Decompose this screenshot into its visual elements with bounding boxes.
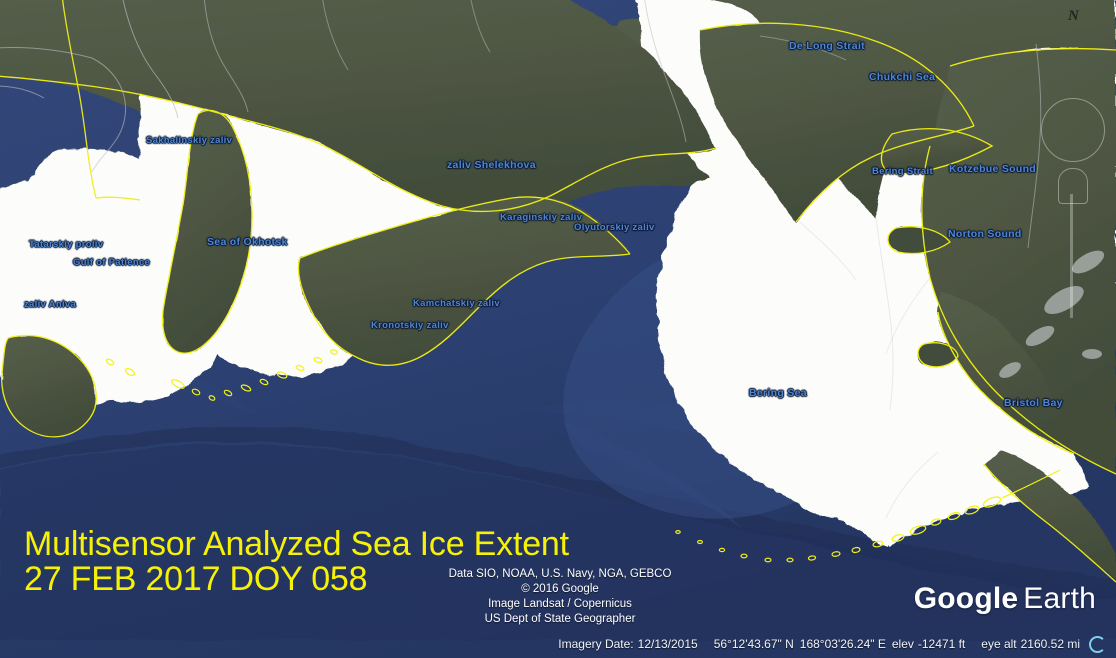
imagery-date-label: Imagery Date: [558, 637, 633, 651]
attribution-line: US Dept of State Geographer [432, 612, 688, 627]
eye-altitude-value: 2160.52 mi [1021, 637, 1080, 651]
google-earth-logo: GoogleEarth [914, 582, 1096, 616]
google-earth-viewport[interactable]: De Long StraitChukchi SeaBering StraitKo… [0, 0, 1116, 658]
zoom-slider-handle[interactable] [1058, 168, 1088, 204]
zoom-slider[interactable] [1058, 168, 1086, 318]
zoom-slider-track[interactable] [1070, 194, 1073, 318]
attribution-line: Image Landsat / Copernicus [432, 597, 688, 612]
imagery-date-value: 12/13/2015 [638, 637, 698, 651]
logo-google-text: Google [914, 582, 1019, 615]
look-joystick-ring-icon[interactable] [1041, 98, 1105, 162]
attribution-line: © 2016 Google [432, 582, 688, 597]
elevation-value: -12471 ft [918, 637, 965, 651]
status-bar: Imagery Date: 12/13/2015 56°12'43.67" N … [0, 634, 1116, 654]
compass-north-icon[interactable]: N [1068, 8, 1079, 25]
latitude-readout: 56°12'43.67" N [714, 637, 794, 651]
loading-spinner-icon [1089, 636, 1106, 653]
map-attribution: Data SIO, NOAA, U.S. Navy, NGA, GEBCO© 2… [432, 567, 688, 627]
logo-earth-text: Earth [1023, 582, 1096, 615]
overlay-title-line-1: Multisensor Analyzed Sea Ice Extent [24, 527, 569, 562]
elevation-label: elev [892, 637, 914, 651]
attribution-line: Data SIO, NOAA, U.S. Navy, NGA, GEBCO [432, 567, 688, 582]
eye-altitude-label: eye alt [981, 637, 1016, 651]
longitude-readout: 168°03'26.24" E [800, 637, 886, 651]
